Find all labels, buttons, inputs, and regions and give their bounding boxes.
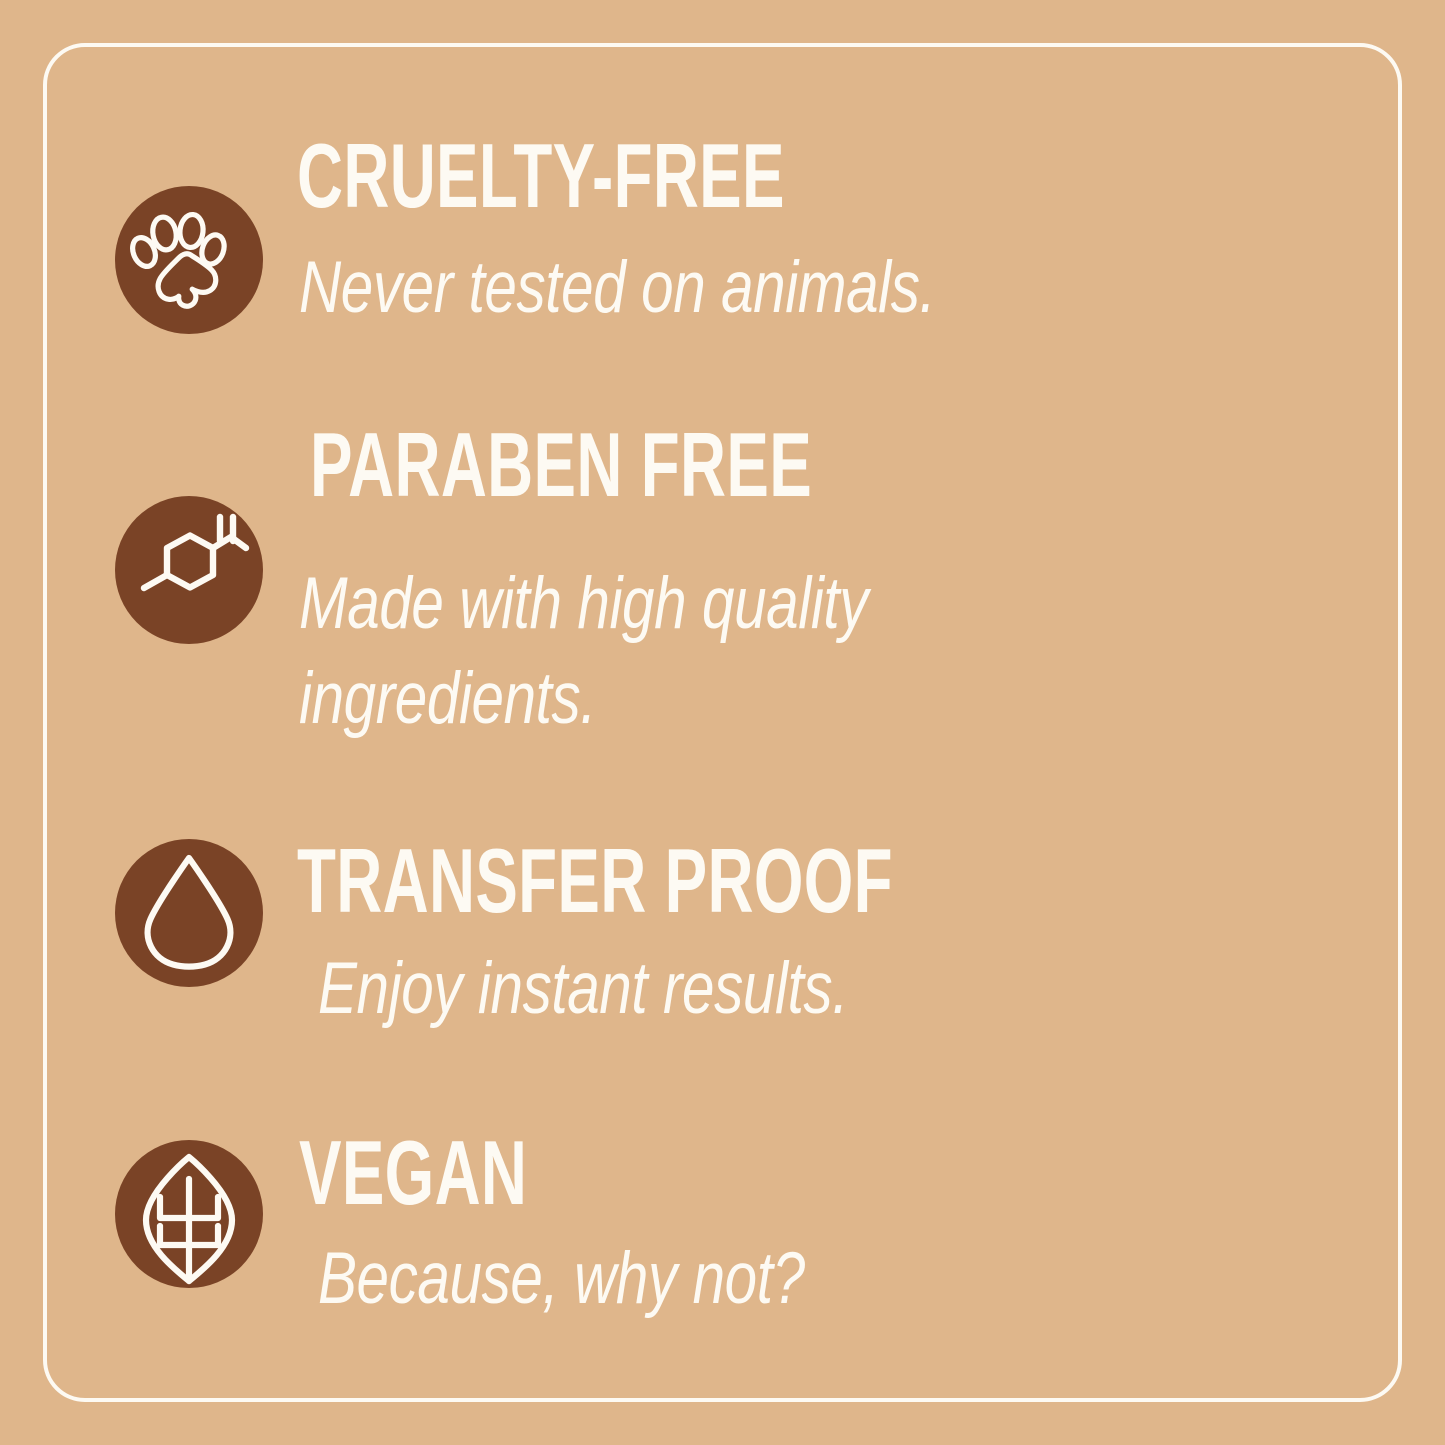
badge-circle-paraben-free — [115, 496, 263, 644]
badge-circle-cruelty-free — [115, 186, 263, 334]
feature-subtitle-cruelty-free: Never tested on animals. — [299, 241, 935, 336]
feature-subtitle-paraben-free: Made with high quality ingredients. — [299, 557, 868, 747]
feature-subtitle-vegan: Because, why not? — [318, 1232, 805, 1327]
paw-print-icon — [115, 186, 263, 334]
leaf-icon — [115, 1140, 263, 1288]
feature-subtitle-transfer-proof: Enjoy instant results. — [318, 942, 848, 1037]
feature-title-transfer-proof: TRANSFER PROOF — [297, 838, 893, 925]
subtitle-line-1: Made with high quality — [299, 557, 868, 652]
badge-circle-vegan — [115, 1140, 263, 1288]
chemical-molecule-icon — [115, 496, 263, 644]
feature-title-cruelty-free: CRUELTY-FREE — [297, 133, 785, 220]
subtitle-line-2: ingredients. — [299, 652, 868, 747]
feature-title-paraben-free: PARABEN FREE — [310, 422, 812, 509]
benefits-infographic: CRUELTY-FREE Never tested on animals. PA… — [0, 0, 1445, 1445]
feature-title-vegan: VEGAN — [299, 1130, 527, 1217]
badge-circle-transfer-proof — [115, 839, 263, 987]
water-droplet-icon — [115, 839, 263, 987]
